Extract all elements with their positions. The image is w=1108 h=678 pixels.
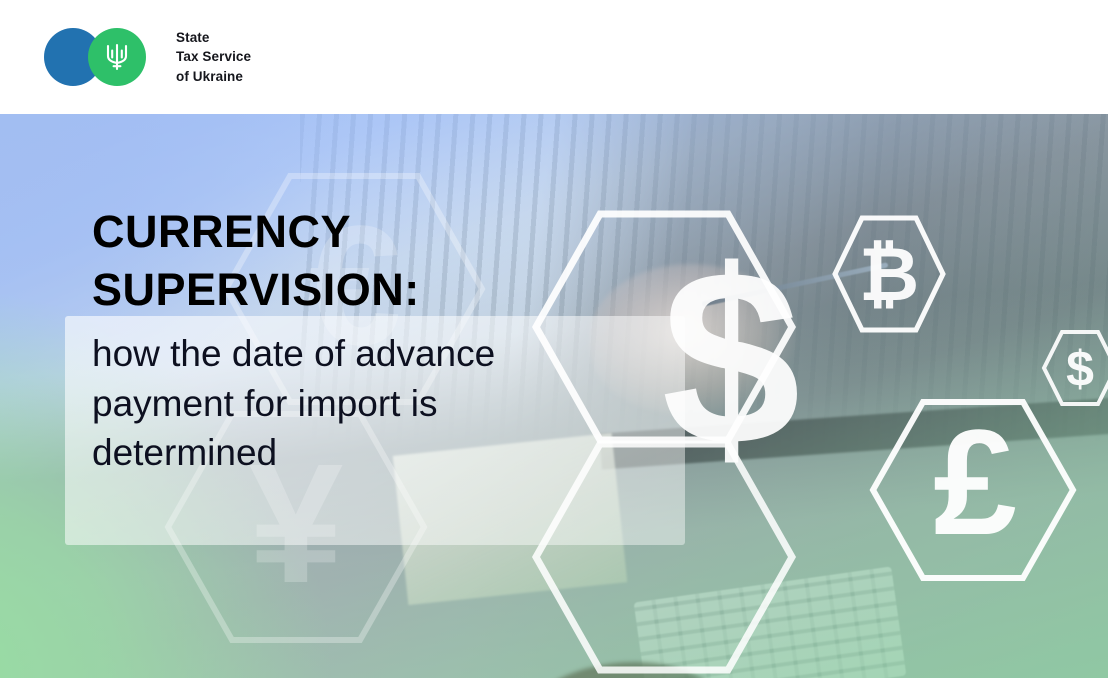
organization-name: State Tax Service of Ukraine — [176, 28, 251, 85]
ukraine-trident-icon — [104, 41, 130, 73]
banner-page: State Tax Service of Ukraine — [0, 0, 1108, 678]
hero-subheadline: how the date of advance payment for impo… — [92, 329, 692, 478]
green-circle-icon — [88, 28, 146, 86]
logo-marks — [44, 28, 162, 86]
brand-logo[interactable]: State Tax Service of Ukraine — [44, 28, 251, 86]
hero-headline: CURRENCY SUPERVISION: — [92, 203, 420, 318]
site-header: State Tax Service of Ukraine — [0, 0, 1108, 114]
hero-text-block: CURRENCY SUPERVISION: how the date of ad… — [0, 114, 1108, 678]
hero-banner: € ¥ $ ₿ $ — [0, 114, 1108, 678]
